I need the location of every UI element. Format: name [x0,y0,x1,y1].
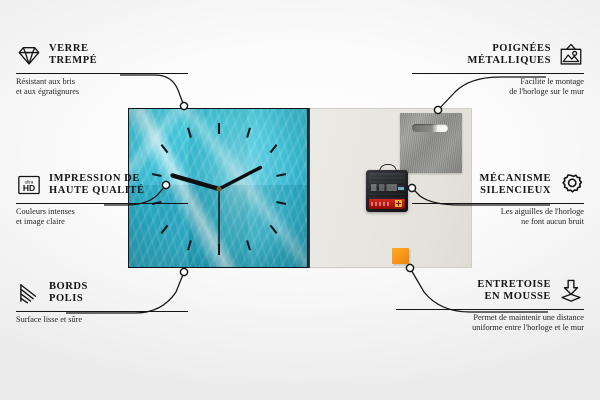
diamond-icon [16,42,42,68]
foam-spacer-part [392,248,409,264]
gear-icon [558,172,584,198]
battery [369,199,405,209]
feature-desc-line1: Facilite le montage [412,77,584,87]
polished-edges-icon [16,280,42,306]
feature-rule [16,203,188,204]
feature-title: POIGNÉES MÉTALLIQUES [468,43,551,68]
feature-desc-line1: Les aiguilles de l'horloge [412,207,584,217]
feature-desc-line2: et aux égratignures [16,87,188,97]
feature-rule [16,73,188,74]
movement-printed-label [371,184,397,191]
feature-rule [16,311,188,312]
metal-hanger-plate [400,113,462,173]
feature-rule [412,203,584,204]
feature-header: VERRE TREMPÉ [16,40,188,70]
movement-hanger-hook [379,164,397,173]
ultra-hd-badge-icon: ultra HD [16,172,42,198]
feature-title: IMPRESSION DE HAUTE QUALITÉ [49,173,145,198]
movement-indicator [398,187,404,190]
feature-title: ENTRETOISE EN MOUSSE [477,279,551,304]
feature-rule [412,73,584,74]
infographic-canvas: VERRE TREMPÉ Résistant aux bris et aux é… [0,0,600,400]
feature-title: VERRE TREMPÉ [49,43,97,68]
feature-entretoise-en-mousse: ENTRETOISE EN MOUSSE Permet de maintenir… [396,276,584,333]
hanging-frame-icon [558,42,584,68]
clock-center-cap [216,186,221,191]
feature-desc-line1: Permet de maintenir une distance [396,313,584,323]
feature-mecanisme-silencieux: MÉCANISME SILENCIEUX Les aiguilles de l'… [412,170,584,227]
feature-desc-line1: Couleurs intenses [16,207,188,217]
feature-header: ultra HD IMPRESSION DE HAUTE QUALITÉ [16,170,188,200]
feature-header: BORDS POLIS [16,278,188,308]
feature-poignees-metalliques: POIGNÉES MÉTALLIQUES Facilite le montage… [412,40,584,97]
feature-rule [396,309,584,310]
clock-minute-hand [219,168,261,190]
plate-keyhole-slot [412,124,448,132]
feature-title: MÉCANISME SILENCIEUX [480,173,551,198]
metal-grain-texture [400,113,462,173]
feature-desc-line1: Résistant aux bris [16,77,188,87]
foam-spacer-icon [558,278,584,304]
feature-bords-polis: BORDS POLIS Surface lisse et sûre [16,278,188,325]
feature-title: BORDS POLIS [49,281,88,306]
feature-verre-trempe: VERRE TREMPÉ Résistant aux bris et aux é… [16,40,188,97]
feature-desc-line2: et image claire [16,217,188,227]
feature-desc-line2: ne font aucun bruit [412,217,584,227]
feature-header: POIGNÉES MÉTALLIQUES [412,40,584,70]
feature-header: ENTRETOISE EN MOUSSE [396,276,584,306]
feature-desc-line1: Surface lisse et sûre [16,315,188,325]
svg-text:HD: HD [23,183,35,193]
feature-header: MÉCANISME SILENCIEUX [412,170,584,200]
feature-impression-haute-qualite: ultra HD IMPRESSION DE HAUTE QUALITÉ Cou… [16,170,188,227]
battery-label [371,202,391,206]
battery-plus-terminal [395,200,402,207]
feature-desc-line2: de l'horloge sur le mur [412,87,584,97]
feature-desc-line2: uniforme entre l'horloge et le mur [396,323,584,333]
clock-movement [366,170,408,212]
